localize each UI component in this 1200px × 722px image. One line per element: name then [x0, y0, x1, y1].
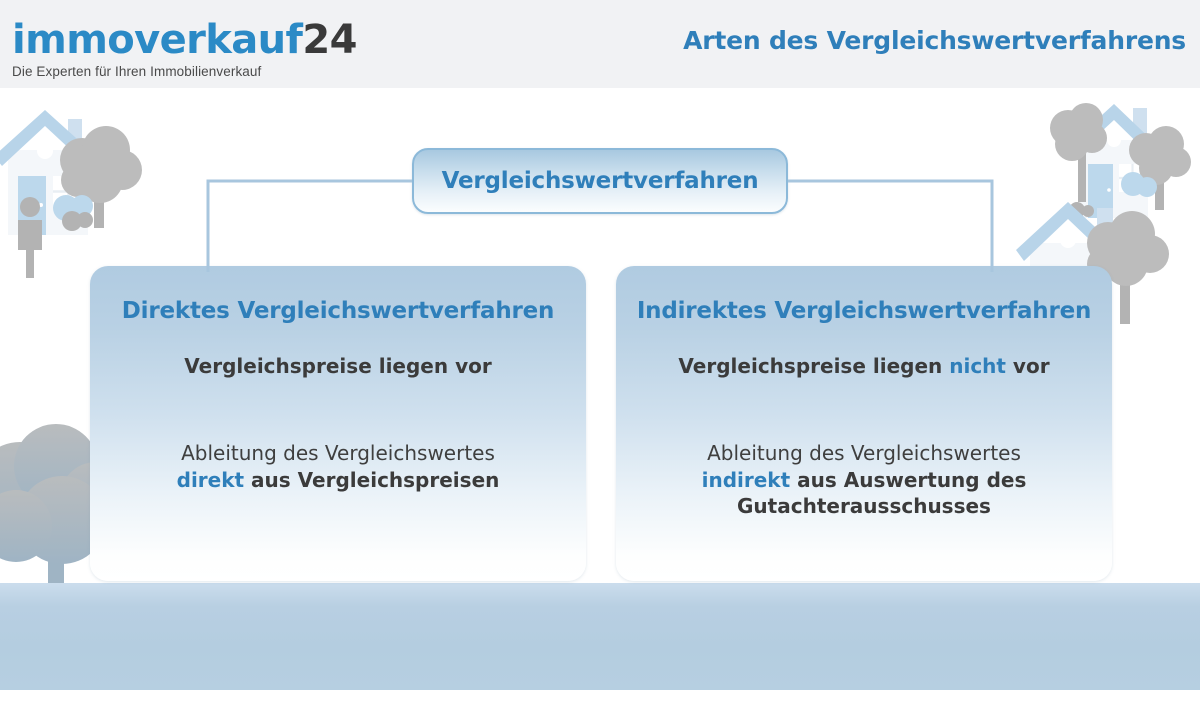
logo-wordmark-dark: 24: [302, 17, 356, 63]
page-title: Arten des Vergleichswertverfahrens: [683, 26, 1186, 55]
logo-wordmark-blue: immoverkauf: [12, 17, 302, 63]
brand-logo[interactable]: immoverkauf24 Die Experten für Ihren Imm…: [12, 20, 357, 79]
connector-lines: [0, 0, 1200, 722]
page-header: immoverkauf24 Die Experten für Ihren Imm…: [0, 0, 1200, 88]
logo-tagline: Die Experten für Ihren Immobilienverkauf: [12, 65, 357, 79]
logo-wordmark: immoverkauf24: [12, 20, 357, 60]
